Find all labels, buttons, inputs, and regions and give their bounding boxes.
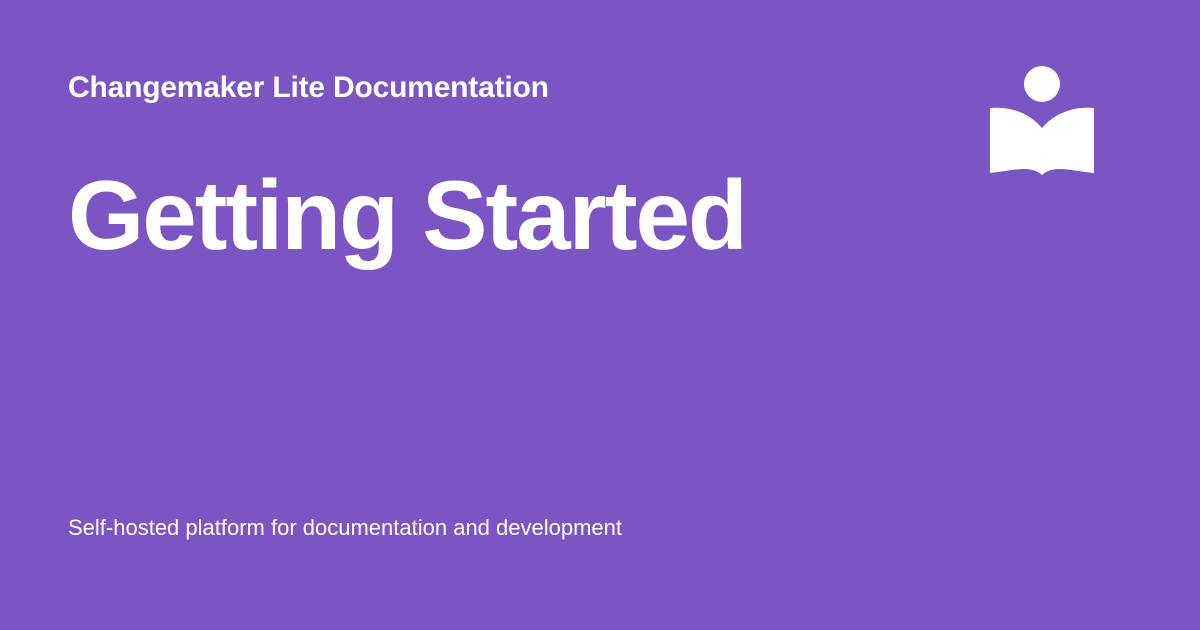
open-book-icon — [990, 108, 1094, 175]
banner-header: Changemaker Lite Documentation — [68, 68, 1132, 114]
page-title: Getting Started — [68, 160, 746, 270]
reader-head-icon — [1024, 66, 1060, 102]
brand-logo — [986, 62, 1102, 182]
page-subtitle: Self-hosted platform for documentation a… — [68, 513, 622, 543]
open-book-reader-icon — [986, 62, 1102, 182]
documentation-banner: Changemaker Lite Documentation Getting S… — [0, 0, 1200, 630]
site-name: Changemaker Lite Documentation — [68, 68, 1132, 108]
